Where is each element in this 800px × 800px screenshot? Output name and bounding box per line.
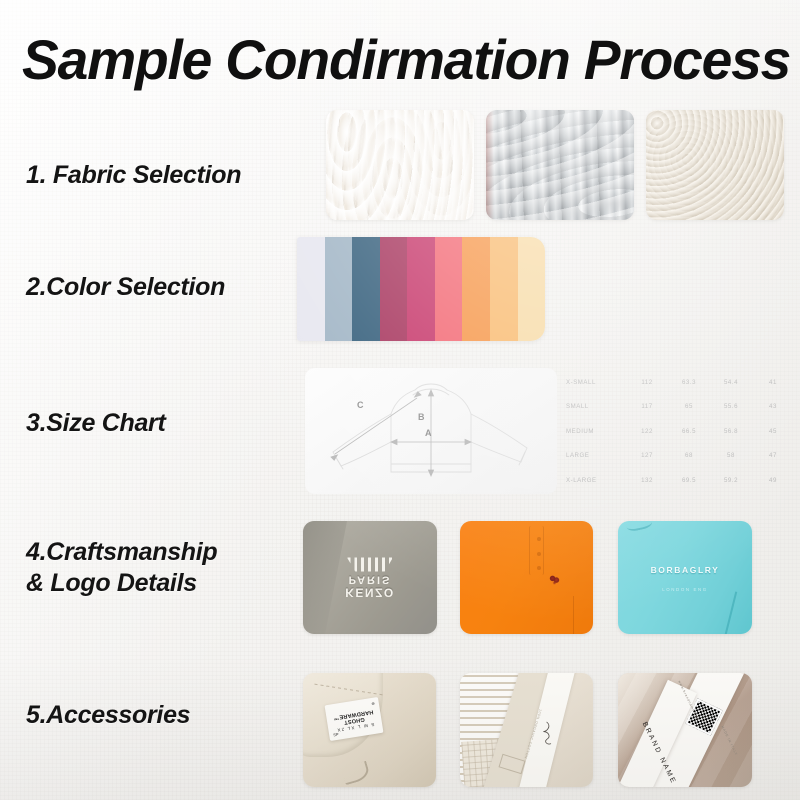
size-value-cell: 54.4 xyxy=(710,370,752,395)
chest-embroidery-icon xyxy=(548,574,561,585)
woven-care-label-hoodie[interactable]: ⊗ GHOST HARDWARE™ S M L XL 2X SP xyxy=(303,673,436,787)
care-label-code: SP xyxy=(332,731,338,737)
boucle-beige-swatch[interactable] xyxy=(646,110,784,220)
size-value-cell: 122 xyxy=(626,419,668,444)
burberry-line-1: BORBAGLRY xyxy=(651,565,720,575)
size-name-cell: LARGE xyxy=(562,444,626,469)
size-value-cell: 69.5 xyxy=(668,468,710,493)
polo-side-seam xyxy=(573,596,574,634)
section-label-size-chart: 3.Size Chart xyxy=(26,408,166,439)
size-name-cell: X-SMALL xyxy=(562,370,626,395)
turquoise-garment-chest-logo[interactable]: BORBAGLRY LONDON ENG xyxy=(618,521,752,634)
size-name-cell: SMALL xyxy=(562,395,626,420)
polo-button-mid xyxy=(537,552,541,556)
measure-label-c: C xyxy=(357,400,364,410)
color-swatch-7[interactable] xyxy=(462,237,490,341)
garment-seam xyxy=(722,592,737,634)
size-value-cell: 49 xyxy=(752,468,794,493)
kenzo-paris-embroidery: KENZO PARIS xyxy=(345,557,395,598)
section-label-accessories: 5.Accessories xyxy=(26,700,190,731)
sweater-line-art: A B C xyxy=(305,368,557,494)
size-name-cell: MEDIUM xyxy=(562,419,626,444)
size-value-cell: 65 xyxy=(668,395,710,420)
section-label-fabric-selection: 1. Fabric Selection xyxy=(26,160,241,191)
size-value-cell: 68 xyxy=(668,444,710,469)
size-measurement-table: X-SMALL11263.354.441SMALL1176555.643MEDI… xyxy=(562,370,794,493)
size-value-cell: 58 xyxy=(710,444,752,469)
technical-sweater-drawing[interactable]: A B C xyxy=(305,368,557,494)
size-value-cell: 43 xyxy=(752,395,794,420)
chest-logo-print: BORBAGLRY LONDON ENG xyxy=(651,560,720,596)
page-title: Sample Condirmation Process xyxy=(22,30,771,90)
drawcord xyxy=(341,761,371,785)
color-swatch-3[interactable] xyxy=(352,237,380,341)
wavy-grey-marbled-swatch[interactable] xyxy=(486,110,634,220)
infographic-page: Sample Condirmation Process 1. Fabric Se… xyxy=(0,0,800,800)
size-value-cell: 41 xyxy=(752,370,794,395)
color-swatch-1[interactable] xyxy=(297,237,325,341)
burberry-line-2: LONDON ENG xyxy=(662,587,708,592)
embroidered-logo-grey-fabric[interactable]: KENZO PARIS xyxy=(303,521,437,634)
fabric-fold xyxy=(303,521,348,634)
care-label-tag: ⊗ GHOST HARDWARE™ S M L XL 2X SP xyxy=(324,697,383,741)
size-value-cell: 56.8 xyxy=(710,419,752,444)
size-value-cell: 112 xyxy=(626,370,668,395)
color-swatch-2[interactable] xyxy=(325,237,353,341)
size-table-row: SMALL1176555.643 xyxy=(562,395,794,420)
color-palette-strip[interactable] xyxy=(297,237,545,341)
size-value-cell: 59.2 xyxy=(710,468,752,493)
size-table-row: X-LARGE13269.559.249 xyxy=(562,468,794,493)
qr-code-brand-hang-tags[interactable]: www.brandname.com MADE IN ITALY BRAND NA… xyxy=(618,673,752,787)
size-name-cell: X-LARGE xyxy=(562,468,626,493)
care-symbol-icon: ⊗ xyxy=(371,700,375,705)
size-table-row: X-SMALL11263.354.441 xyxy=(562,370,794,395)
color-swatch-9[interactable] xyxy=(518,237,546,341)
kenzo-line-1: KENZO xyxy=(345,585,395,599)
kenzo-line-2: PARIS xyxy=(349,573,392,585)
cable-knit-cream-swatch[interactable] xyxy=(326,110,474,220)
paper-hang-tags-knit[interactable]: 100% ORGANIC COTTON xyxy=(460,673,593,787)
size-value-cell: 55.6 xyxy=(710,395,752,420)
orange-polo-shirt-placket[interactable] xyxy=(460,521,593,634)
kenzo-rays-icon xyxy=(347,557,393,571)
size-value-cell: 132 xyxy=(626,468,668,493)
size-value-cell: 117 xyxy=(626,395,668,420)
color-swatch-6[interactable] xyxy=(435,237,463,341)
garment-collar xyxy=(625,521,653,533)
size-table-row: LARGE127685847 xyxy=(562,444,794,469)
size-value-cell: 45 xyxy=(752,419,794,444)
size-value-cell: 66.5 xyxy=(668,419,710,444)
color-swatch-5[interactable] xyxy=(407,237,435,341)
measure-label-a: A xyxy=(425,428,432,438)
size-value-cell: 127 xyxy=(626,444,668,469)
size-value-cell: 63.3 xyxy=(668,370,710,395)
section-label-craftsmanship: 4.Craftsmanship & Logo Details xyxy=(26,537,217,599)
size-table-row: MEDIUM12266.556.845 xyxy=(562,419,794,444)
color-swatch-4[interactable] xyxy=(380,237,408,341)
polo-button-top xyxy=(537,537,541,541)
measure-label-b: B xyxy=(418,412,425,422)
color-swatch-8[interactable] xyxy=(490,237,518,341)
section-label-color-selection: 2.Color Selection xyxy=(26,272,225,303)
size-value-cell: 47 xyxy=(752,444,794,469)
